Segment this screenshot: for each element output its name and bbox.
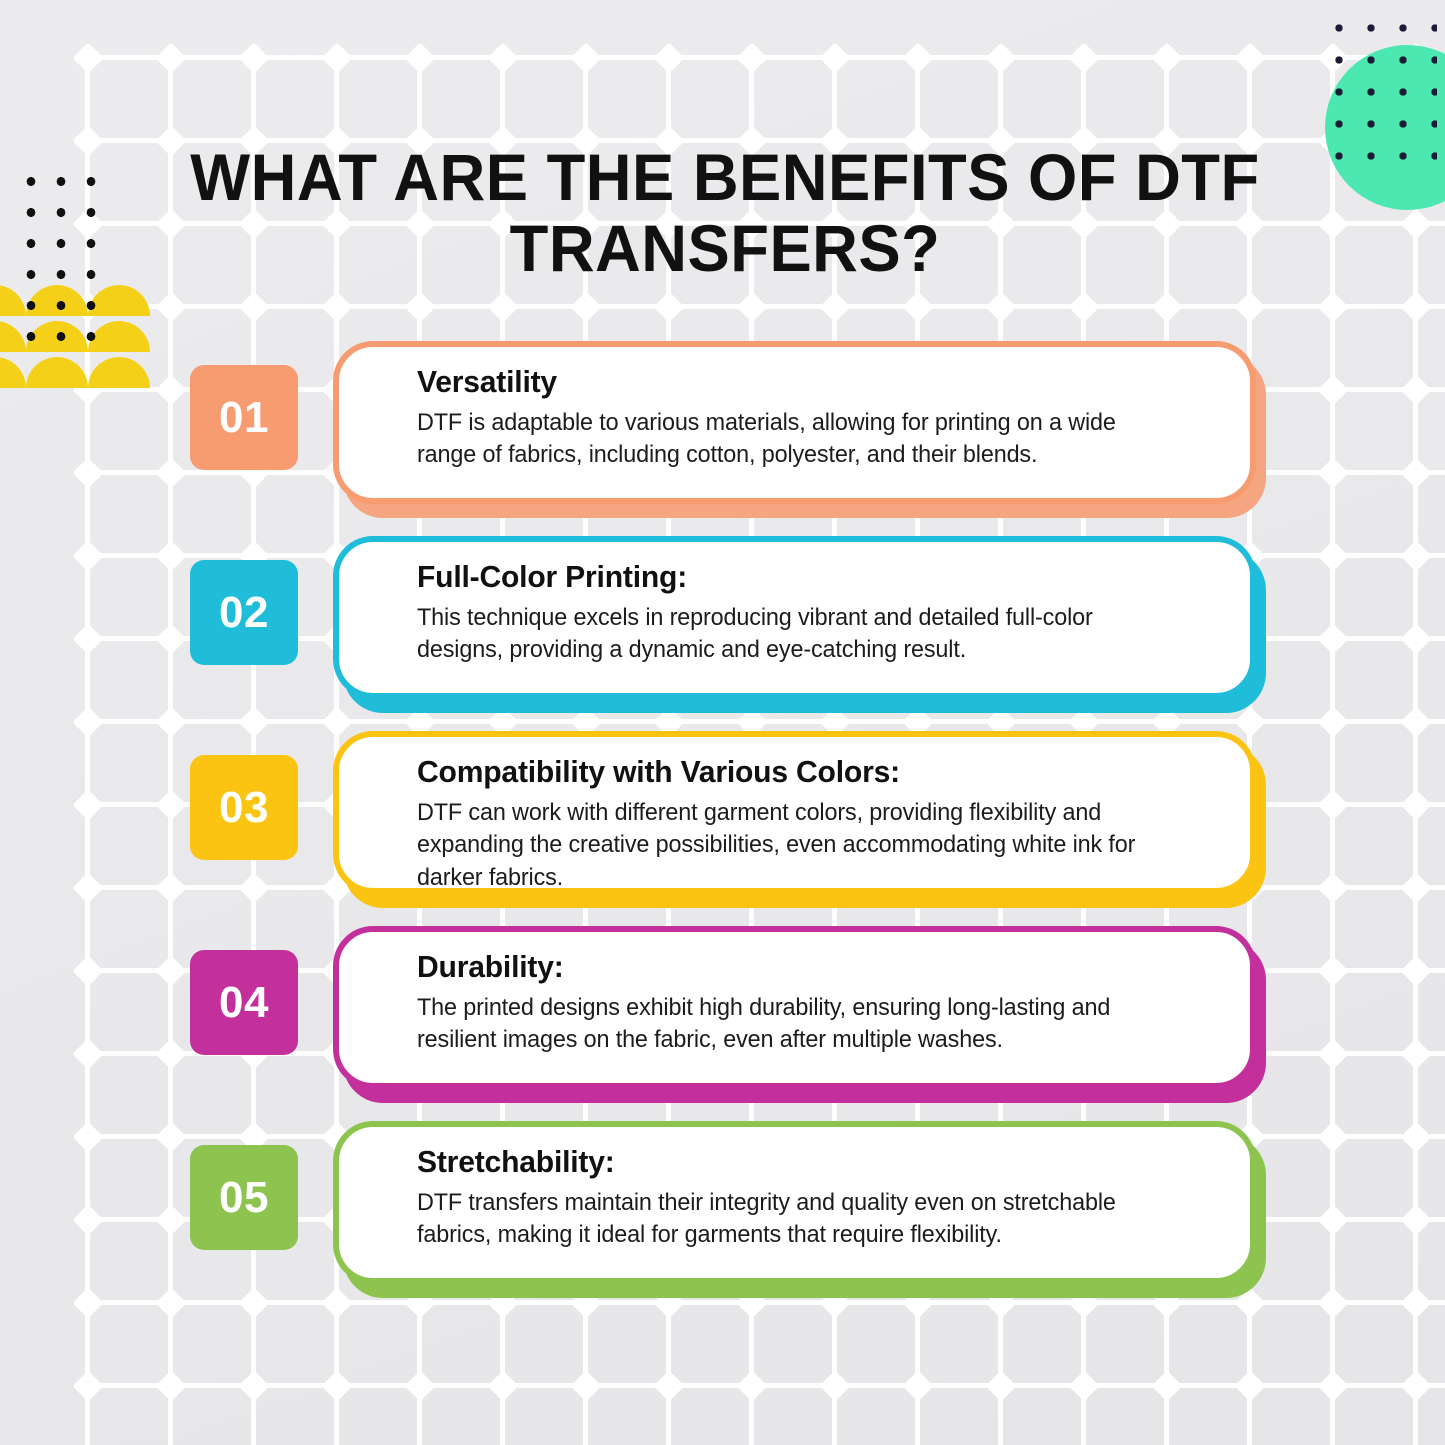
- grid-diamond: [1068, 1370, 1099, 1401]
- grid-diamond: [487, 1370, 518, 1401]
- grid-diamond: [819, 1370, 850, 1401]
- benefit-card-body: This technique excels in reproducing vib…: [417, 602, 1180, 667]
- grid-diamond: [1317, 291, 1348, 322]
- benefit-row: 05Stretchability:DTF transfers maintain …: [0, 1121, 1445, 1316]
- grid-diamond: [404, 291, 435, 322]
- grid-diamond: [1151, 42, 1182, 73]
- grid-diamond: [902, 42, 933, 73]
- benefit-card: Compatibility with Various Colors:DTF ca…: [333, 731, 1256, 894]
- benefit-card-wrapper: Compatibility with Various Colors:DTF ca…: [333, 731, 1256, 901]
- benefit-card-title: Compatibility with Various Colors:: [417, 754, 1192, 790]
- grid-diamond: [321, 42, 352, 73]
- page-title-line-1: WHAT ARE THE BENEFITS OF DTF: [190, 140, 1259, 214]
- benefit-card-wrapper: Stretchability:DTF transfers maintain th…: [333, 1121, 1256, 1291]
- benefit-number-badge: 01: [190, 365, 298, 470]
- grid-diamond: [487, 42, 518, 73]
- benefit-card-title: Stretchability:: [417, 1144, 1192, 1180]
- benefit-number-badge: 03: [190, 755, 298, 860]
- grid-diamond: [1151, 291, 1182, 322]
- grid-diamond: [1400, 291, 1431, 322]
- benefit-row: 04Durability:The printed designs exhibit…: [0, 926, 1445, 1121]
- benefit-card-title: Full-Color Printing:: [417, 559, 1192, 595]
- benefit-card-title: Durability:: [417, 949, 1192, 985]
- benefit-card: VersatilityDTF is adaptable to various m…: [333, 341, 1256, 504]
- left-dot-grid-decoration: [12, 160, 102, 360]
- grid-diamond: [653, 291, 684, 322]
- grid-diamond: [238, 1370, 269, 1401]
- grid-diamond: [653, 1370, 684, 1401]
- benefit-number-badge: 02: [190, 560, 298, 665]
- benefit-card: Full-Color Printing:This technique excel…: [333, 536, 1256, 699]
- benefit-card-body: DTF is adaptable to various materials, a…: [417, 407, 1180, 472]
- grid-diamond: [1151, 1370, 1182, 1401]
- grid-diamond: [902, 1370, 933, 1401]
- grid-diamond: [1068, 291, 1099, 322]
- benefit-row: 02Full-Color Printing:This technique exc…: [0, 536, 1445, 731]
- benefit-row: 01VersatilityDTF is adaptable to various…: [0, 341, 1445, 536]
- grid-diamond: [570, 1370, 601, 1401]
- grid-diamond: [1068, 42, 1099, 73]
- benefit-card-body: DTF can work with different garment colo…: [417, 797, 1180, 894]
- grid-diamond: [238, 291, 269, 322]
- benefit-number-badge: 04: [190, 950, 298, 1055]
- grid-diamond: [155, 42, 186, 73]
- grid-diamond: [1400, 1370, 1431, 1401]
- grid-diamond: [321, 1370, 352, 1401]
- grid-diamond: [1400, 208, 1431, 239]
- grid-diamond: [1317, 208, 1348, 239]
- grid-diamond: [736, 42, 767, 73]
- benefit-number-badge: 05: [190, 1145, 298, 1250]
- top-right-dot-grid-decoration: [1319, 8, 1437, 168]
- grid-diamond: [238, 42, 269, 73]
- grid-diamond: [1317, 1370, 1348, 1401]
- infographic-poster: WHAT ARE THE BENEFITS OF DTF TRANSFERS? …: [0, 0, 1445, 1445]
- grid-diamond: [487, 291, 518, 322]
- grid-diamond: [72, 42, 103, 73]
- grid-diamond: [1234, 42, 1265, 73]
- benefit-card-body: DTF transfers maintain their integrity a…: [417, 1187, 1180, 1252]
- benefit-card: Durability:The printed designs exhibit h…: [333, 926, 1256, 1089]
- benefit-card: Stretchability:DTF transfers maintain th…: [333, 1121, 1256, 1284]
- grid-diamond: [72, 125, 103, 156]
- grid-diamond: [902, 291, 933, 322]
- page-title: WHAT ARE THE BENEFITS OF DTF TRANSFERS?: [173, 142, 1277, 285]
- grid-diamond: [736, 291, 767, 322]
- grid-diamond: [1234, 1370, 1265, 1401]
- grid-diamond: [653, 42, 684, 73]
- grid-diamond: [321, 291, 352, 322]
- grid-diamond: [404, 42, 435, 73]
- grid-diamond: [570, 291, 601, 322]
- benefit-card-wrapper: Full-Color Printing:This technique excel…: [333, 536, 1256, 706]
- grid-diamond: [570, 42, 601, 73]
- grid-diamond: [155, 1370, 186, 1401]
- grid-diamond: [72, 1370, 103, 1401]
- grid-diamond: [985, 1370, 1016, 1401]
- page-title-line-2: TRANSFERS?: [510, 211, 941, 285]
- benefit-row: 03Compatibility with Various Colors:DTF …: [0, 731, 1445, 926]
- grid-diamond: [819, 291, 850, 322]
- benefit-card-wrapper: Durability:The printed designs exhibit h…: [333, 926, 1256, 1096]
- grid-diamond: [155, 291, 186, 322]
- grid-diamond: [1234, 291, 1265, 322]
- grid-diamond: [736, 1370, 767, 1401]
- grid-diamond: [404, 1370, 435, 1401]
- benefit-card-title: Versatility: [417, 364, 1192, 400]
- benefit-card-body: The printed designs exhibit high durabil…: [417, 992, 1180, 1057]
- grid-diamond: [985, 291, 1016, 322]
- grid-diamond: [819, 42, 850, 73]
- benefits-list: 01VersatilityDTF is adaptable to various…: [0, 341, 1445, 1316]
- benefit-card-wrapper: VersatilityDTF is adaptable to various m…: [333, 341, 1256, 511]
- grid-diamond: [985, 42, 1016, 73]
